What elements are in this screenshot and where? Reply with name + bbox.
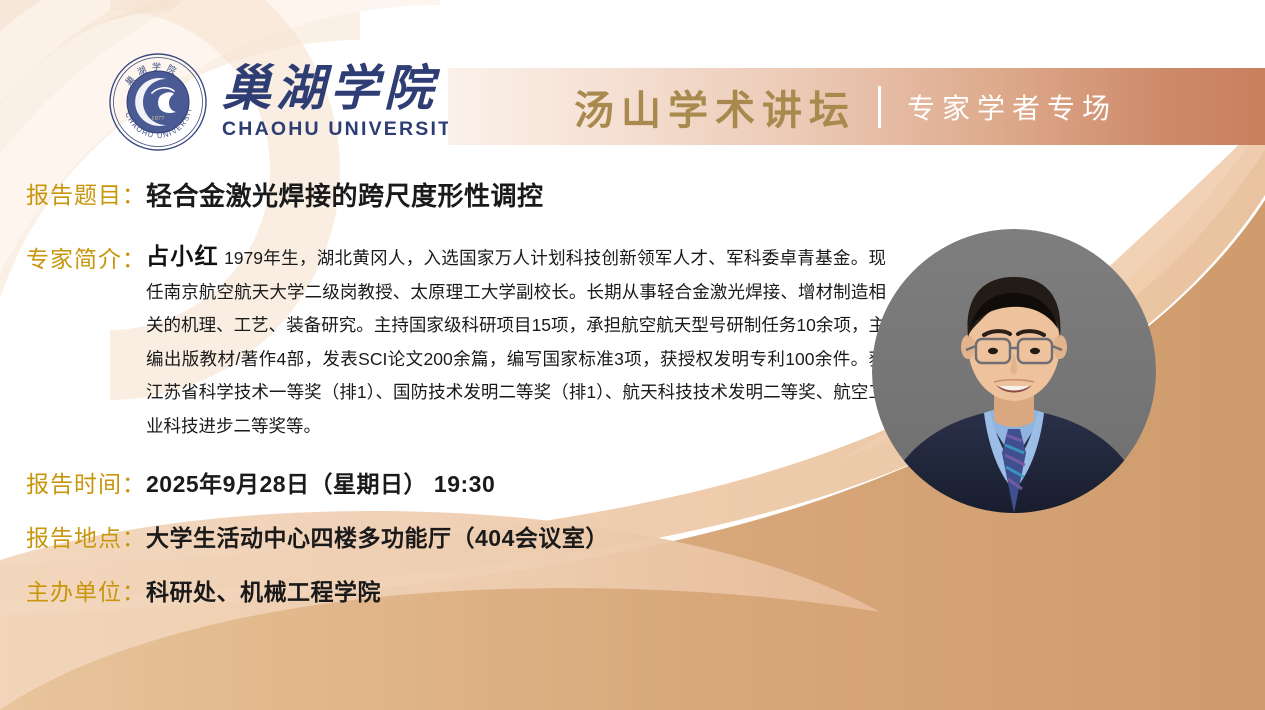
expert-name: 占小红 — [146, 243, 219, 269]
report-title-row: 报告题目 轻合金激光焊接的跨尺度形性调控 — [26, 176, 544, 213]
logo-name-cn: 巢湖学院 — [222, 64, 467, 113]
banner-sub-title: 专家学者专场 — [907, 87, 1117, 127]
banner-divider — [878, 86, 881, 128]
report-title-value: 轻合金激光焊接的跨尺度形性调控 — [146, 176, 544, 213]
expert-bio-paragraph: 1979年生，湖北黄冈人，入选国家万人计划科技创新领军人才、军科委卓青基金。现任… — [146, 248, 886, 436]
report-title-label: 报告题目 — [26, 176, 146, 210]
expert-bio-label: 专家简介 — [26, 240, 146, 274]
report-host-row: 主办单位 科研处、机械工程学院 — [26, 573, 381, 607]
report-time-value: 2025年9月28日（星期日） 19:30 — [146, 465, 495, 499]
report-time-label: 报告时间 — [26, 465, 146, 499]
poster-root: 1977 巢湖学院 CHAOHU UNIVERSITY 巢湖学院 CHAOHU … — [0, 0, 1265, 710]
report-place-row: 报告地点 大学生活动中心四楼多功能厅（404会议室） — [26, 519, 609, 553]
speaker-portrait-image — [872, 229, 1156, 513]
expert-bio-row: 专家简介 占小红 1979年生，湖北黄冈人，入选国家万人计划科技创新领军人才、军… — [26, 240, 886, 443]
report-host-label: 主办单位 — [26, 573, 146, 607]
expert-bio-text: 占小红 1979年生，湖北黄冈人，入选国家万人计划科技创新领军人才、军科委卓青基… — [146, 240, 886, 443]
report-place-label: 报告地点 — [26, 519, 146, 553]
university-logo: 1977 巢湖学院 CHAOHU UNIVERSITY 巢湖学院 CHAOHU … — [108, 52, 467, 152]
poster-header: 1977 巢湖学院 CHAOHU UNIVERSITY 巢湖学院 CHAOHU … — [0, 0, 1265, 160]
speaker-portrait — [872, 229, 1156, 513]
svg-text:1977: 1977 — [151, 116, 164, 122]
logo-name-en: CHAOHU UNIVERSITY — [222, 120, 467, 140]
report-time-row: 报告时间 2025年9月28日（星期日） 19:30 — [26, 465, 495, 499]
chaohu-university-seal-icon: 1977 巢湖学院 CHAOHU UNIVERSITY — [108, 52, 208, 152]
banner-main-title: 汤山学术讲坛 — [574, 78, 856, 136]
report-place-value: 大学生活动中心四楼多功能厅（404会议室） — [146, 519, 609, 553]
forum-banner: 汤山学术讲坛 专家学者专场 — [448, 68, 1265, 145]
report-host-value: 科研处、机械工程学院 — [146, 573, 381, 607]
